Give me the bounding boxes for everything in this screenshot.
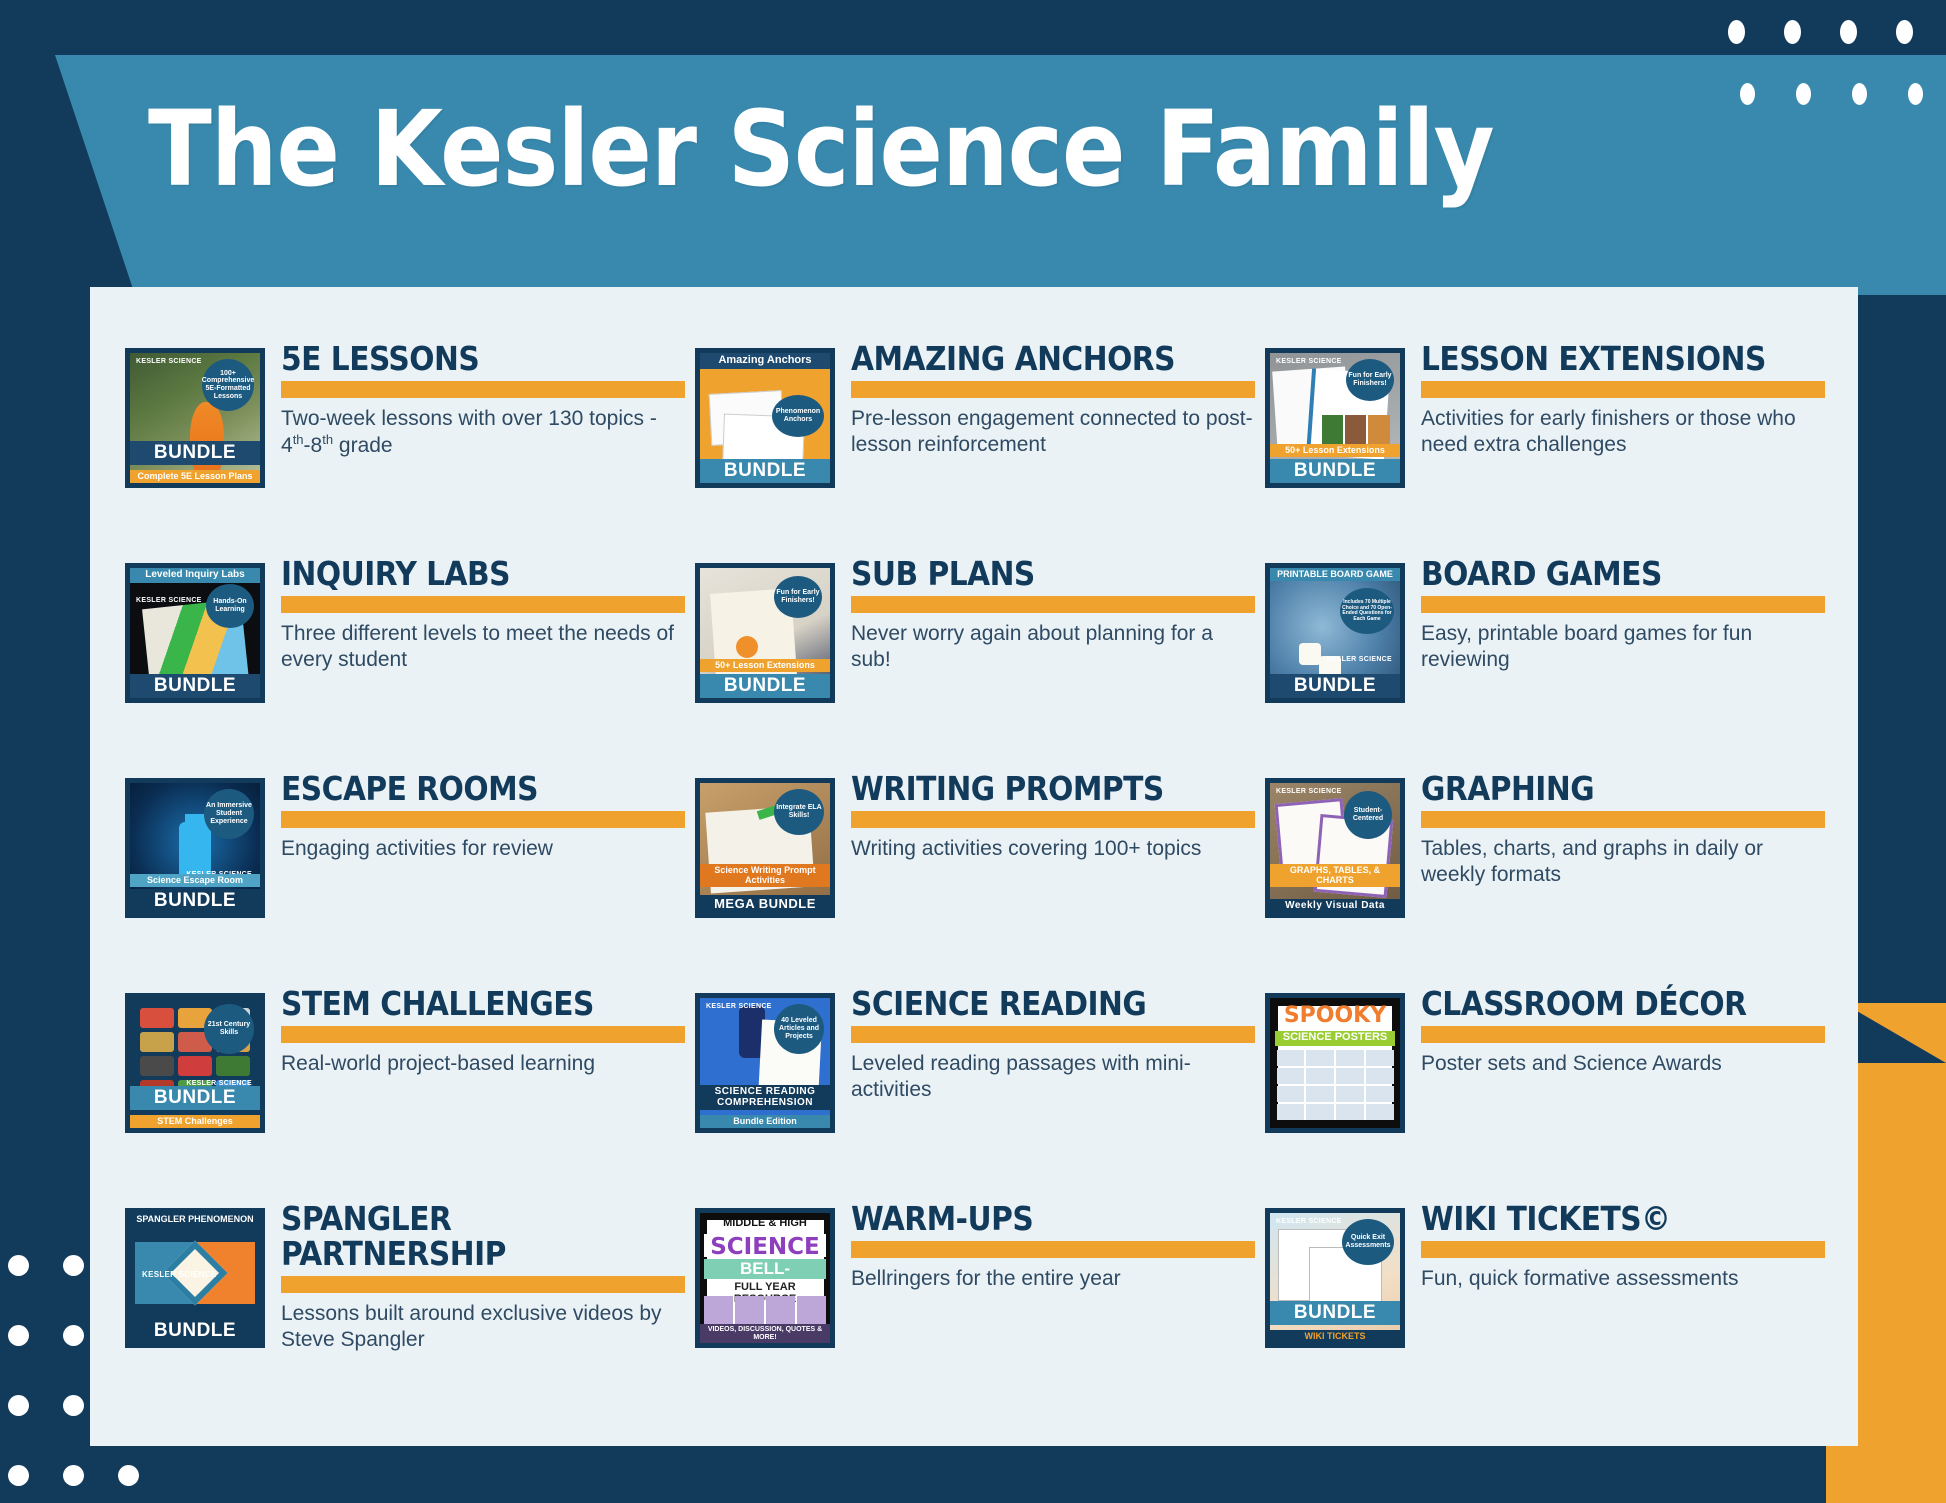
product-text-block: WRITING PROMPTSWriting activities coveri… bbox=[851, 770, 1255, 862]
thumbnail-bundle-label: MEGA BUNDLE bbox=[700, 895, 830, 913]
product-title: CLASSROOM DÉCOR bbox=[1421, 987, 1825, 1022]
product-text-block: ESCAPE ROOMSEngaging activities for revi… bbox=[281, 770, 685, 862]
thumbnail-badge: An Immersive Student Experience bbox=[204, 789, 254, 839]
thumbnail-badge: Integrate ELA Skills! bbox=[774, 789, 824, 835]
product-title: ESCAPE ROOMS bbox=[281, 772, 685, 807]
thumbnail-bundle-label: BUNDLE bbox=[130, 1086, 260, 1110]
product-description: Three different levels to meet the needs… bbox=[281, 621, 685, 672]
thumbnail-bundle-label: BUNDLE bbox=[130, 889, 260, 913]
product-text-block: SUB PLANSNever worry again about plannin… bbox=[851, 555, 1255, 672]
product-card[interactable]: MIDDLE & HIGHSCIENCEBELL-RINGERSFULL YEA… bbox=[695, 1200, 1255, 1415]
product-card[interactable]: PRINTABLE BOARD GAMEKESLER SCIENCEInclud… bbox=[1265, 555, 1825, 770]
product-text-block: SCIENCE READINGLeveled reading passages … bbox=[851, 985, 1255, 1102]
thumbnail-header-label: Amazing Anchors bbox=[700, 353, 830, 369]
product-card[interactable]: KESLER SCIENCE40 Leveled Articles and Pr… bbox=[695, 985, 1255, 1200]
title-underline-bar bbox=[1421, 1026, 1825, 1043]
product-title: SCIENCE READING bbox=[851, 987, 1255, 1022]
thumbnail-strip-label: WIKI TICKETS bbox=[1270, 1330, 1400, 1343]
product-card[interactable]: KESLER SCIENCEAn Immersive Student Exper… bbox=[125, 770, 685, 985]
product-title: 5E LESSONS bbox=[281, 342, 685, 377]
thumbnail-strip-label: Bundle Edition bbox=[700, 1115, 830, 1128]
product-text-block: STEM CHALLENGESReal-world project-based … bbox=[281, 985, 685, 1077]
product-text-block: WIKI TICKETS©Fun, quick formative assess… bbox=[1421, 1200, 1825, 1292]
thumbnail-bundle-label: BUNDLE bbox=[1270, 1301, 1400, 1325]
thumbnail-bundle-label: SCIENCE READING COMPREHENSION bbox=[700, 1085, 830, 1110]
product-description: Bellringers for the entire year bbox=[851, 1266, 1255, 1292]
decorative-dot bbox=[8, 1325, 29, 1346]
title-underline-bar bbox=[851, 596, 1255, 613]
thumbnail-bundle-label: BUNDLE bbox=[130, 441, 260, 465]
product-grid: KESLER SCIENCE100+ Comprehensive 5E-Form… bbox=[125, 340, 1825, 1415]
thumbnail-strip-label: VIDEOS, DISCUSSION, QUOTES & MORE! bbox=[700, 1324, 830, 1343]
title-underline-bar bbox=[281, 1276, 685, 1293]
decorative-dot bbox=[1728, 20, 1745, 44]
product-thumbnail[interactable]: KESLER SCIENCEStudent-CenteredGRAPHS, TA… bbox=[1265, 778, 1405, 918]
product-title: GRAPHING bbox=[1421, 772, 1825, 807]
product-thumbnail[interactable]: KESLER SCIENCE40 Leveled Articles and Pr… bbox=[695, 993, 835, 1133]
product-text-block: 5E LESSONSTwo-week lessons with over 130… bbox=[281, 340, 685, 458]
product-description: Writing activities covering 100+ topics bbox=[851, 836, 1255, 862]
page-title: The Kesler Science Family bbox=[148, 88, 1494, 210]
thumbnail-badge: 40 Leveled Articles and Projects bbox=[774, 1004, 824, 1054]
product-text-block: SPANGLER PARTNERSHIPLessons built around… bbox=[281, 1200, 685, 1352]
product-text-block: LESSON EXTENSIONSActivities for early fi… bbox=[1421, 340, 1825, 457]
kesler-science-logo: KESLER SCIENCE bbox=[136, 598, 202, 605]
product-description: Lessons built around exclusive videos by… bbox=[281, 1301, 685, 1352]
product-card[interactable]: Fun for Early Finishers!50+ Lesson Exten… bbox=[695, 555, 1255, 770]
thumbnail-badge: Quick Exit Assessments bbox=[1342, 1219, 1394, 1265]
product-thumbnail[interactable]: Integrate ELA Skills!Science Writing Pro… bbox=[695, 778, 835, 918]
decorative-dot bbox=[1908, 83, 1923, 105]
thumbnail-badge: Phenomenon Anchors bbox=[772, 395, 824, 437]
product-title: STEM CHALLENGES bbox=[281, 987, 685, 1022]
product-description: Fun, quick formative assessments bbox=[1421, 1266, 1825, 1292]
thumbnail-strip-label: STEM Challenges bbox=[130, 1115, 260, 1128]
thumbnail-badge: Student-Centered bbox=[1344, 791, 1392, 839]
product-text-block: CLASSROOM DÉCORPoster sets and Science A… bbox=[1421, 985, 1825, 1077]
title-underline-bar bbox=[1421, 381, 1825, 398]
thumbnail-strip-label: Science Escape Room bbox=[130, 874, 260, 887]
product-text-block: GRAPHINGTables, charts, and graphs in da… bbox=[1421, 770, 1825, 887]
thumbnail-bundle-label: BUNDLE bbox=[1270, 674, 1400, 698]
decorative-dot bbox=[1840, 20, 1857, 44]
thumbnail-strip-label: Complete 5E Lesson Plans bbox=[130, 470, 260, 483]
product-thumbnail[interactable]: KESLER SCIENCE21st Century SkillsSTEM Ch… bbox=[125, 993, 265, 1133]
title-underline-bar bbox=[281, 381, 685, 398]
kesler-science-logo: KESLER SCIENCE bbox=[1326, 657, 1392, 664]
product-card[interactable]: KESLER SCIENCE100+ Comprehensive 5E-Form… bbox=[125, 340, 685, 555]
product-thumbnail[interactable]: SPANGLER PHENOMENONKESLER SCIENCEBUNDLE bbox=[125, 1208, 265, 1348]
title-underline-bar bbox=[851, 381, 1255, 398]
product-card[interactable]: KESLER SCIENCE21st Century SkillsSTEM Ch… bbox=[125, 985, 685, 1200]
thumbnail-strip-label: 50+ Lesson Extensions bbox=[1270, 444, 1400, 457]
product-thumbnail[interactable]: Leveled Inquiry LabsKESLER SCIENCEHands-… bbox=[125, 563, 265, 703]
product-description: Easy, printable board games for fun revi… bbox=[1421, 621, 1825, 672]
thumbnail-bundle-label: BUNDLE bbox=[700, 674, 830, 698]
thumbnail-badge: 21st Century Skills bbox=[204, 1004, 254, 1054]
kesler-science-logo: KESLER SCIENCE bbox=[142, 1271, 216, 1279]
product-title: WRITING PROMPTS bbox=[851, 772, 1255, 807]
product-card[interactable]: SPANGLER PHENOMENONKESLER SCIENCEBUNDLES… bbox=[125, 1200, 685, 1415]
decorative-dot bbox=[1784, 20, 1801, 44]
product-thumbnail[interactable]: PRINTABLE BOARD GAMEKESLER SCIENCEInclud… bbox=[1265, 563, 1405, 703]
product-title: WIKI TICKETS© bbox=[1421, 1202, 1825, 1237]
product-title: SUB PLANS bbox=[851, 557, 1255, 592]
thumbnail-header-label: PRINTABLE BOARD GAME bbox=[1270, 568, 1400, 581]
product-title: WARM-UPS bbox=[851, 1202, 1255, 1237]
product-card[interactable]: KESLER SCIENCEStudent-CenteredGRAPHS, TA… bbox=[1265, 770, 1825, 985]
product-description: Leveled reading passages with mini-activ… bbox=[851, 1051, 1255, 1102]
thumbnail-strip-label: Science Writing Prompt Activities bbox=[700, 864, 830, 887]
decorative-dot bbox=[8, 1465, 29, 1486]
product-thumbnail[interactable]: SPOOKYSCIENCE POSTERSSPOOKY bbox=[1265, 993, 1405, 1133]
product-thumbnail[interactable]: KESLER SCIENCEQuick Exit AssessmentsWIKI… bbox=[1265, 1208, 1405, 1348]
decorative-dot bbox=[63, 1395, 84, 1416]
title-underline-bar bbox=[1421, 596, 1825, 613]
product-thumbnail[interactable]: Fun for Early Finishers!50+ Lesson Exten… bbox=[695, 563, 835, 703]
title-underline-bar bbox=[1421, 811, 1825, 828]
thumbnail-bundle-label: BUNDLE bbox=[130, 674, 260, 698]
product-card[interactable]: Leveled Inquiry LabsKESLER SCIENCEHands-… bbox=[125, 555, 685, 770]
title-underline-bar bbox=[281, 1026, 685, 1043]
decorative-dot bbox=[1740, 83, 1755, 105]
kesler-science-logo: KESLER SCIENCE bbox=[136, 359, 202, 366]
product-thumbnail[interactable]: KESLER SCIENCE100+ Comprehensive 5E-Form… bbox=[125, 348, 265, 488]
product-description: Pre-lesson engagement connected to post-… bbox=[851, 406, 1255, 457]
decorative-dot bbox=[118, 1465, 139, 1486]
title-underline-bar bbox=[851, 811, 1255, 828]
product-card[interactable]: KESLER SCIENCEQuick Exit AssessmentsWIKI… bbox=[1265, 1200, 1825, 1415]
kesler-science-logo: KESLER SCIENCE bbox=[706, 1004, 772, 1011]
kesler-science-logo: KESLER SCIENCE bbox=[1276, 1219, 1342, 1226]
product-thumbnail[interactable]: Amazing AnchorsPhenomenon AnchorsBUNDLE bbox=[695, 348, 835, 488]
thumbnail-badge: Includes 70 Multiple Choice and 70 Open-… bbox=[1340, 588, 1394, 634]
product-card[interactable]: KESLER SCIENCEFun for Early Finishers!50… bbox=[1265, 340, 1825, 555]
product-title: INQUIRY LABS bbox=[281, 557, 685, 592]
thumbnail-bundle-label: BUNDLE bbox=[1270, 459, 1400, 483]
product-description: Real-world project-based learning bbox=[281, 1051, 685, 1077]
product-description: Never worry again about planning for a s… bbox=[851, 621, 1255, 672]
product-text-block: AMAZING ANCHORSPre-lesson engagement con… bbox=[851, 340, 1255, 457]
product-title: AMAZING ANCHORS bbox=[851, 342, 1255, 377]
product-text-block: INQUIRY LABSThree different levels to me… bbox=[281, 555, 685, 672]
thumbnail-badge: Fun for Early Finishers! bbox=[774, 576, 822, 618]
thumbnail-badge: Hands-On Learning bbox=[206, 584, 254, 628]
thumbnail-bundle-label: Weekly Visual Data bbox=[1270, 899, 1400, 914]
title-underline-bar bbox=[1421, 1241, 1825, 1258]
decorative-dot bbox=[8, 1255, 29, 1276]
product-description: Tables, charts, and graphs in daily or w… bbox=[1421, 836, 1825, 887]
decorative-dot bbox=[1852, 83, 1867, 105]
product-title: BOARD GAMES bbox=[1421, 557, 1825, 592]
thumbnail-header-label: Leveled Inquiry Labs bbox=[130, 568, 260, 583]
thumbnail-header-label: SPANGLER PHENOMENON bbox=[130, 1213, 260, 1226]
title-underline-bar bbox=[281, 596, 685, 613]
product-text-block: BOARD GAMESEasy, printable board games f… bbox=[1421, 555, 1825, 672]
product-card[interactable]: Amazing AnchorsPhenomenon AnchorsBUNDLEA… bbox=[695, 340, 1255, 555]
product-thumbnail[interactable]: KESLER SCIENCEFun for Early Finishers!50… bbox=[1265, 348, 1405, 488]
decorative-dot bbox=[8, 1395, 29, 1416]
product-description: Activities for early finishers or those … bbox=[1421, 406, 1825, 457]
decorative-dot bbox=[1896, 20, 1913, 44]
decorative-dot bbox=[63, 1255, 84, 1276]
product-description: Two-week lessons with over 130 topics - … bbox=[281, 406, 685, 458]
title-underline-bar bbox=[281, 811, 685, 828]
decorative-dot bbox=[63, 1325, 84, 1346]
thumbnail-bundle-label: BUNDLE bbox=[130, 1319, 260, 1343]
thumbnail-bundle-label: BUNDLE bbox=[700, 459, 830, 483]
kesler-science-logo: KESLER SCIENCE bbox=[1276, 789, 1342, 796]
product-title: LESSON EXTENSIONS bbox=[1421, 342, 1825, 377]
product-thumbnail[interactable]: KESLER SCIENCEAn Immersive Student Exper… bbox=[125, 778, 265, 918]
product-description: Engaging activities for review bbox=[281, 836, 685, 862]
product-title: SPANGLER PARTNERSHIP bbox=[281, 1202, 685, 1272]
decorative-dot bbox=[63, 1465, 84, 1486]
title-underline-bar bbox=[851, 1241, 1255, 1258]
product-card[interactable]: SPOOKYSCIENCE POSTERSSPOOKYCLASSROOM DÉC… bbox=[1265, 985, 1825, 1200]
product-thumbnail[interactable]: MIDDLE & HIGHSCIENCEBELL-RINGERSFULL YEA… bbox=[695, 1208, 835, 1348]
kesler-science-logo: KESLER SCIENCE bbox=[1276, 359, 1342, 366]
product-text-block: WARM-UPSBellringers for the entire year bbox=[851, 1200, 1255, 1292]
thumbnail-strip-label: GRAPHS, TABLES, & CHARTS bbox=[1270, 864, 1400, 887]
decorative-dot bbox=[1796, 83, 1811, 105]
thumbnail-badge: Fun for Early Finishers! bbox=[1346, 359, 1394, 401]
thumbnail-badge: 100+ Comprehensive 5E-Formatted Lessons bbox=[202, 359, 254, 411]
thumbnail-strip-label: 50+ Lesson Extensions bbox=[700, 659, 830, 672]
product-card[interactable]: Integrate ELA Skills!Science Writing Pro… bbox=[695, 770, 1255, 985]
title-underline-bar bbox=[851, 1026, 1255, 1043]
product-description: Poster sets and Science Awards bbox=[1421, 1051, 1825, 1077]
